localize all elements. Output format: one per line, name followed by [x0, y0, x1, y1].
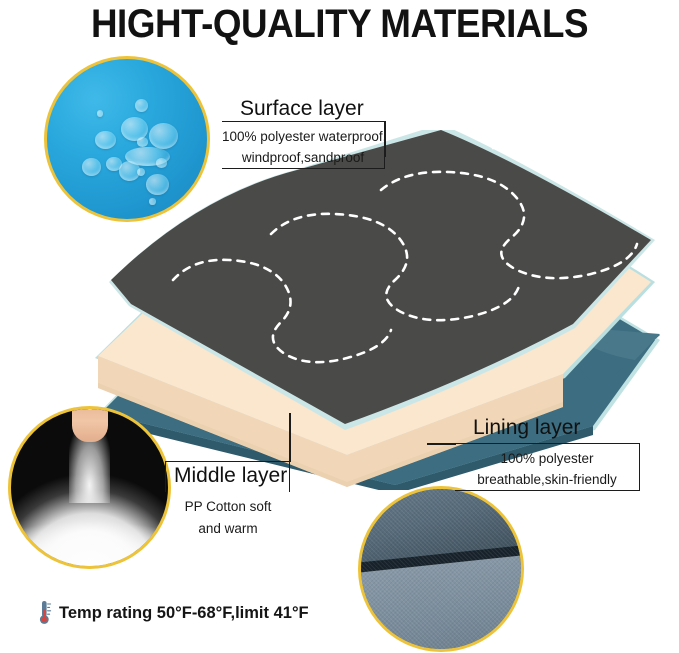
leader-line-surface: [384, 121, 386, 157]
product-feature-infographic: HIGHT-QUALITY MATERIALS: [0, 0, 679, 653]
callout-title-middle: Middle layer: [174, 464, 287, 488]
callout-title-surface: Surface layer: [240, 97, 364, 121]
callout-middle-line-1: PP Cotton soft: [163, 496, 293, 518]
callout-lining-line-1: 100% polyester: [455, 449, 639, 470]
callout-box-surface: 100% polyester waterproof, windproof,san…: [222, 121, 385, 169]
thermometer-icon: [36, 600, 56, 626]
fabric-weave-texture: [361, 489, 521, 649]
leader-line-middle: [289, 413, 291, 462]
callout-surface-line-2: windproof,sandproof: [222, 148, 384, 169]
callout-title-lining: Lining layer: [473, 416, 580, 440]
temp-rating-row: Temp rating 50°F-68°F,limit 41°F: [36, 600, 309, 626]
photo-lining-fabric: [358, 486, 524, 652]
temp-rating-text: Temp rating 50°F-68°F,limit 41°F: [59, 604, 309, 623]
page-title: HIGHT-QUALITY MATERIALS: [27, 2, 652, 47]
fingernail: [88, 406, 92, 409]
callout-lining-line-2: breathable,skin-friendly: [455, 470, 639, 491]
leader-line-lining: [427, 443, 456, 445]
finger: [72, 406, 108, 442]
callout-middle-line-2: and warm: [163, 518, 293, 540]
photo-water-droplets: [44, 56, 210, 222]
photo-pp-cotton: [8, 406, 171, 569]
callout-surface-line-1: 100% polyester waterproof,: [222, 127, 384, 148]
callout-box-lining: 100% polyester breathable,skin-friendly: [455, 443, 640, 491]
callout-text-middle: PP Cotton soft and warm: [163, 496, 293, 541]
